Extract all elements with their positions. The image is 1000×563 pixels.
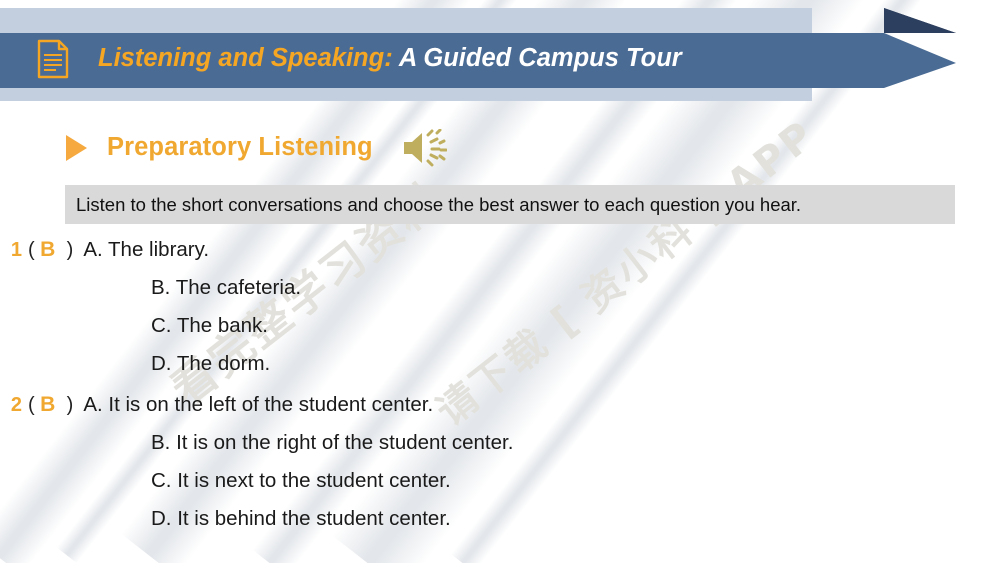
option-text[interactable]: A. The library.	[83, 238, 209, 262]
paren-open: (	[28, 239, 35, 262]
header-content: Listening and Speaking: A Guided Campus …	[0, 30, 682, 88]
paren-close: )	[67, 394, 74, 417]
play-triangle-icon[interactable]	[66, 135, 87, 161]
question-number: 2	[0, 394, 22, 417]
option-row[interactable]: B. It is on the right of the student cen…	[0, 431, 1000, 469]
instruction-bar: Listen to the short conversations and ch…	[65, 185, 955, 224]
option-text[interactable]: C. It is next to the student center.	[151, 469, 451, 493]
paren-close: )	[67, 239, 74, 262]
page-title: Listening and Speaking: A Guided Campus …	[98, 46, 682, 72]
section-heading: Preparatory Listening	[0, 124, 447, 172]
question-number: 1	[0, 239, 22, 262]
question-first-row: 1 ( B ) A. The library.	[0, 238, 1000, 276]
questions-list: 1 ( B ) A. The library. B. The cafeteria…	[0, 238, 1000, 548]
option-row[interactable]: C. The bank.	[0, 314, 1000, 352]
page-title-sub: A Guided Campus Tour	[393, 44, 682, 72]
page-title-main: Listening and Speaking:	[98, 44, 393, 72]
document-icon	[36, 39, 70, 79]
section-title: Preparatory Listening	[107, 135, 373, 161]
option-row[interactable]: D. It is behind the student center.	[0, 507, 1000, 545]
instruction-text: Listen to the short conversations and ch…	[76, 194, 801, 216]
answer-value[interactable]: B	[35, 393, 61, 417]
option-text[interactable]: B. The cafeteria.	[151, 276, 301, 300]
option-text[interactable]: B. It is on the right of the student cen…	[151, 431, 513, 455]
question-block: 2 ( B ) A. It is on the left of the stud…	[0, 393, 1000, 545]
answer-value[interactable]: B	[35, 238, 61, 262]
option-text[interactable]: A. It is on the left of the student cent…	[83, 393, 433, 417]
paren-open: (	[28, 394, 35, 417]
option-text[interactable]: D. It is behind the student center.	[151, 507, 451, 531]
option-row[interactable]: C. It is next to the student center.	[0, 469, 1000, 507]
option-text[interactable]: D. The dorm.	[151, 352, 270, 376]
question-block: 1 ( B ) A. The library. B. The cafeteria…	[0, 238, 1000, 390]
speaker-icon[interactable]	[401, 129, 447, 167]
option-row[interactable]: D. The dorm.	[0, 352, 1000, 390]
question-first-row: 2 ( B ) A. It is on the left of the stud…	[0, 393, 1000, 431]
option-row[interactable]: B. The cafeteria.	[0, 276, 1000, 314]
option-text[interactable]: C. The bank.	[151, 314, 268, 338]
